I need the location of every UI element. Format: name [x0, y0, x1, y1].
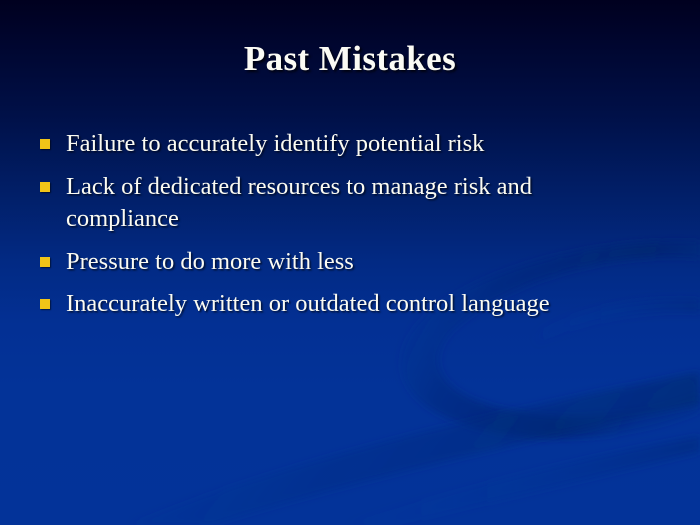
list-item-label: Inaccurately written or outdated control… [66, 288, 611, 321]
square-bullet-icon [40, 182, 50, 192]
presentation-slide: Past Mistakes Failure to accurately iden… [0, 0, 700, 525]
square-bullet-icon [40, 257, 50, 267]
list-item: Lack of dedicated resources to manage ri… [40, 171, 660, 236]
list-item-label: Failure to accurately identify potential… [66, 128, 611, 161]
slide-title: Past Mistakes [0, 40, 700, 79]
list-item-label: Pressure to do more with less [66, 246, 611, 279]
square-bullet-icon [40, 139, 50, 149]
list-item-label: Lack of dedicated resources to manage ri… [66, 171, 611, 236]
list-item: Pressure to do more with less [40, 246, 660, 279]
square-bullet-icon [40, 299, 50, 309]
list-item: Inaccurately written or outdated control… [40, 288, 660, 321]
slide-bullet-list: Failure to accurately identify potential… [40, 128, 660, 331]
list-item: Failure to accurately identify potential… [40, 128, 660, 161]
